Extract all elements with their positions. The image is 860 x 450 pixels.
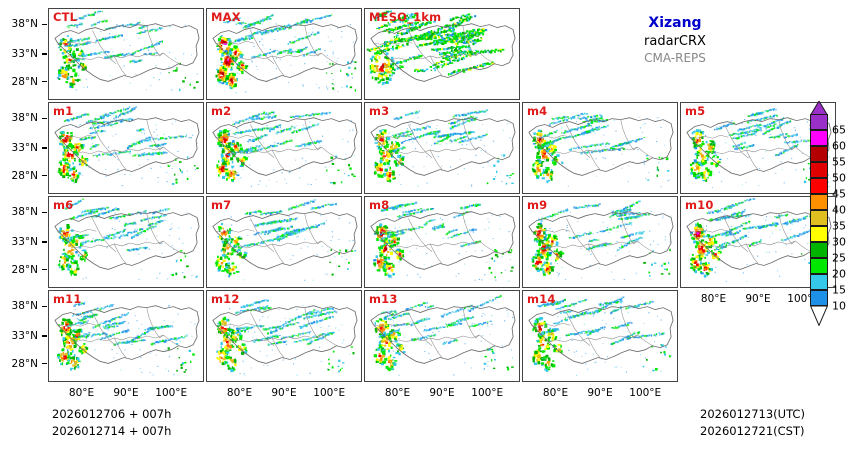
panel-label-m5: m5 [685, 104, 705, 118]
x-tick-label: 100°E [313, 387, 345, 399]
footer-init-times: 2026012706 + 007h 2026012714 + 007h [52, 406, 171, 439]
x-axis-labels: 80°E90°E100°E80°E90°E100°E80°E90°E100°E8… [0, 0, 860, 450]
x-tick-label: 80°E [543, 387, 568, 399]
valid-time-utc: 2026012713(UTC) [700, 406, 805, 423]
colorbar-tick-35: 35 [832, 220, 846, 233]
panel-label-max: MAX [211, 10, 241, 24]
colorbar-segment-50 [810, 162, 828, 178]
panel-label-m4: m4 [527, 104, 547, 118]
colorbar-segment-35 [810, 210, 828, 226]
colorbar-tick-50: 50 [832, 172, 846, 185]
colorbar-tick-10: 10 [832, 300, 846, 313]
colorbar-tick-65: 65 [832, 124, 846, 137]
valid-time-cst: 2026012721(CST) [700, 423, 805, 440]
x-tick-label: 100°E [629, 387, 661, 399]
colorbar-tick-15: 15 [832, 284, 846, 297]
panel-label-m9: m9 [527, 198, 547, 212]
colorbar-tick-40: 40 [832, 204, 846, 217]
x-tick-label: 90°E [113, 387, 138, 399]
colorbar-tick-20: 20 [832, 268, 846, 281]
colorbar-tick-30: 30 [832, 236, 846, 249]
colorbar-segment-40 [810, 194, 828, 210]
x-tick-label: 80°E [385, 387, 410, 399]
colorbar-segment-60 [810, 130, 828, 146]
panel-label-m12: m12 [211, 292, 240, 306]
panel-label-m11: m11 [53, 292, 82, 306]
x-tick-label: 100°E [471, 387, 503, 399]
footer-valid-times: 2026012713(UTC) 2026012721(CST) [700, 406, 805, 439]
x-tick-label: 90°E [745, 293, 770, 305]
panel-label-m6: m6 [53, 198, 73, 212]
colorbar-tick-60: 60 [832, 140, 846, 153]
colorbar-high-arrow [810, 100, 828, 114]
panel-label-m7: m7 [211, 198, 231, 212]
x-tick-label: 80°E [227, 387, 252, 399]
panel-label-m1: m1 [53, 104, 73, 118]
colorbar-segment-65 [810, 114, 828, 130]
panel-label-m2: m2 [211, 104, 231, 118]
panel-label-m13: m13 [369, 292, 398, 306]
x-tick-label: 80°E [701, 293, 726, 305]
x-tick-label: 90°E [271, 387, 296, 399]
x-tick-label: 100°E [155, 387, 187, 399]
colorbar-segment-25 [810, 242, 828, 258]
panel-label-m8: m8 [369, 198, 389, 212]
colorbar-segment-45 [810, 178, 828, 194]
init-time-1: 2026012706 + 007h [52, 406, 171, 423]
panel-label-m14: m14 [527, 292, 556, 306]
x-tick-label: 80°E [69, 387, 94, 399]
colorbar-segment-20 [810, 258, 828, 274]
reflectivity-colorbar: 656055504540353025201510 [810, 100, 856, 320]
colorbar-low-arrow [810, 306, 828, 326]
x-tick-label: 90°E [429, 387, 454, 399]
colorbar-segment-30 [810, 226, 828, 242]
panel-label-m3: m3 [369, 104, 389, 118]
panel-label-meso_1km: MESO_1km [369, 10, 441, 24]
colorbar-segment-10 [810, 290, 828, 306]
colorbar-segment-55 [810, 146, 828, 162]
panel-label-ctl: CTL [53, 10, 77, 24]
x-tick-label: 90°E [587, 387, 612, 399]
colorbar-tick-25: 25 [832, 252, 846, 265]
colorbar-tick-55: 55 [832, 156, 846, 169]
colorbar-tick-45: 45 [832, 188, 846, 201]
panel-label-m10: m10 [685, 198, 714, 212]
init-time-2: 2026012714 + 007h [52, 423, 171, 440]
colorbar-segment-15 [810, 274, 828, 290]
